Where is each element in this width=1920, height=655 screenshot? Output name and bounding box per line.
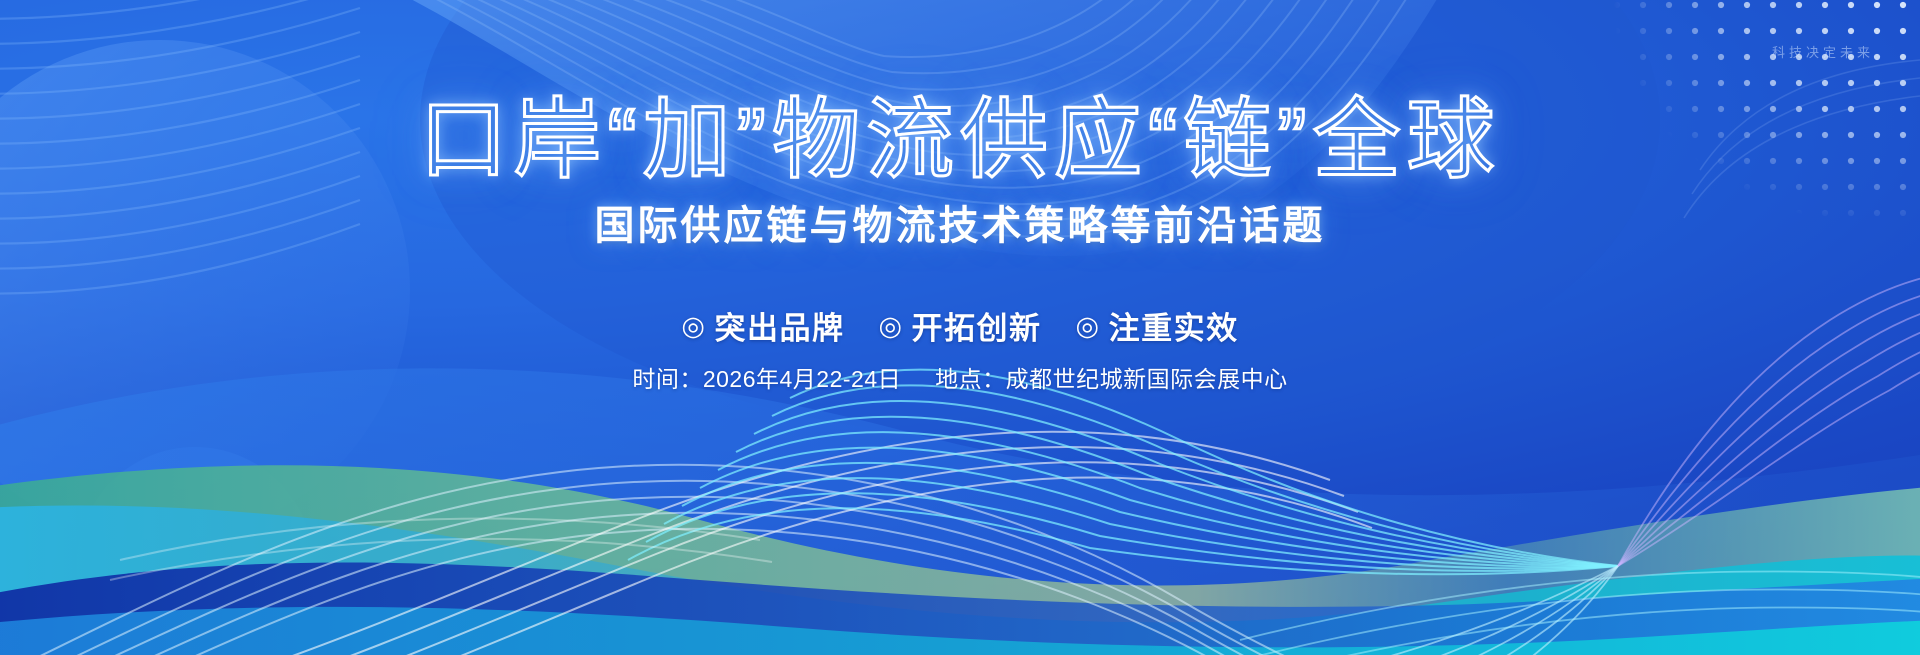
slogan-item: ◎ 注重实效 <box>1076 303 1239 348</box>
bullet-circle-icon: ◎ <box>878 313 903 340</box>
arc-fan-down-branch <box>1090 566 1618 655</box>
event-banner: 科技决定未来 口岸“加”物流供应“链”全球 国际供应链与物流技术策略等前沿话题 … <box>0 0 1920 655</box>
page-title: 口岸“加”物流供应“链”全球 <box>0 96 1920 184</box>
page-subtitle: 国际供应链与物流技术策略等前沿话题 <box>0 202 1920 250</box>
event-date: 时间：2026年4月22-24日 <box>632 360 901 394</box>
slogan-label: 注重实效 <box>1109 303 1239 348</box>
event-venue: 地点：成都世纪城新国际会展中心 <box>935 360 1288 394</box>
event-meta: 时间：2026年4月22-24日 地点：成都世纪城新国际会展中心 <box>0 360 1920 394</box>
slogan-item: ◎ 突出品牌 <box>681 303 844 348</box>
slogan-list: ◎ 突出品牌 ◎ 开拓创新 ◎ 注重实效 <box>0 303 1920 348</box>
bullet-circle-icon: ◎ <box>681 313 706 340</box>
bullet-circle-icon: ◎ <box>1076 313 1101 340</box>
corner-tagline: 科技决定未来 <box>1772 42 1874 61</box>
slogan-label: 开拓创新 <box>912 303 1042 348</box>
arc-fan-left-branch <box>628 370 1618 575</box>
slogan-label: 突出品牌 <box>714 303 844 348</box>
slogan-item: ◎ 开拓创新 <box>878 303 1041 348</box>
